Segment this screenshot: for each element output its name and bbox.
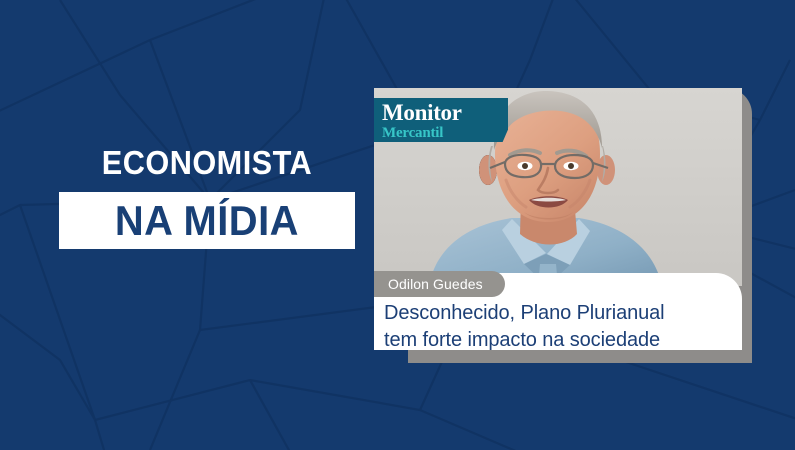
- banner-title-plate: NA MÍDIA: [59, 192, 355, 249]
- article-text-panel: Odilon Guedes Desconhecido, Plano Pluria…: [374, 273, 742, 350]
- article-card[interactable]: Monitor Mercantil Odilon Guedes Desconhe…: [374, 88, 742, 350]
- logo-sub-text: Mercantil: [382, 125, 508, 141]
- banner-headline-block: ECONOMISTA NA MÍDIA: [59, 144, 355, 249]
- promo-banner: ECONOMISTA NA MÍDIA: [0, 0, 795, 450]
- headline-line-2: tem forte impacto na sociedade: [384, 327, 734, 354]
- author-badge: Odilon Guedes: [374, 271, 505, 297]
- headline-line-1: Desconhecido, Plano Plurianual: [384, 300, 734, 327]
- banner-title: NA MÍDIA: [115, 199, 299, 243]
- monitor-mercantil-logo: Monitor Mercantil: [374, 98, 508, 142]
- article-headline[interactable]: Desconhecido, Plano Plurianual tem forte…: [384, 300, 734, 354]
- author-name: Odilon Guedes: [388, 277, 483, 291]
- article-photo: Monitor Mercantil: [374, 88, 742, 286]
- logo-main-text: Monitor: [382, 101, 508, 125]
- banner-eyebrow: ECONOMISTA: [69, 144, 344, 182]
